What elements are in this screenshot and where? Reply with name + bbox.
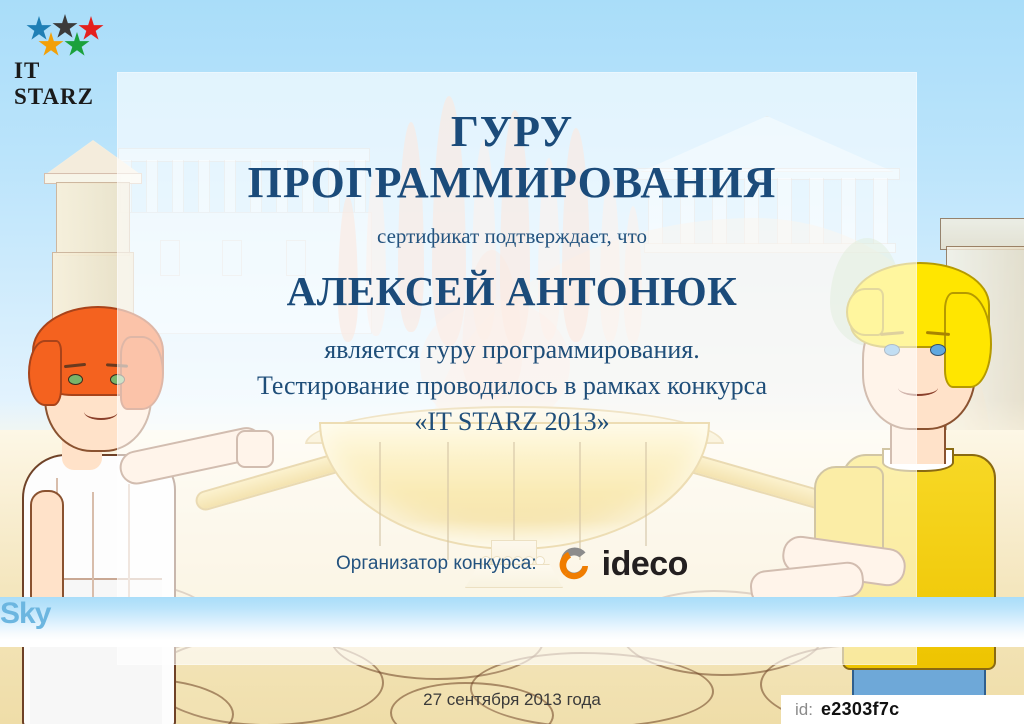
certificate-id-badge: id: e2303f7c	[781, 695, 1024, 724]
body-line-3: «IT STARZ 2013»	[0, 404, 1024, 440]
star-blue-icon	[26, 16, 52, 42]
body-line-1: является гуру программирования.	[0, 332, 1024, 368]
certificate-subtitle: сертификат подтверждает, что	[0, 224, 1024, 249]
ideco-wordmark: ideco	[602, 545, 688, 584]
certificate-canvas: IT STARZ ГУРУ ПРОГРАММИРОВАНИЯ сертифика…	[0, 0, 1024, 724]
star-red-icon	[78, 16, 104, 42]
certificate-id-label: id:	[795, 700, 813, 720]
partner-logo-skydns[interactable]: SkyDNS	[745, 605, 805, 639]
certificate-body: является гуру программирования. Тестиров…	[0, 332, 1024, 440]
star-dark-icon	[52, 14, 78, 40]
organizer-row: Организатор конкурса: ideco	[0, 544, 1024, 584]
organizer-label: Организатор конкурса:	[336, 553, 537, 575]
logo-stars	[14, 14, 114, 56]
partners-row: Партнеры: LINUX FORMAT Главное в мире Li…	[0, 597, 1024, 647]
logo-wordmark: IT STARZ	[14, 58, 124, 110]
skydns-main: Sky	[0, 597, 1024, 647]
certificate-title-line2: ПРОГРАММИРОВАНИЯ	[0, 157, 1024, 208]
certificate-title-line1: ГУРУ	[0, 106, 1024, 157]
body-line-2: Тестирование проводилось в рамках конкур…	[0, 368, 1024, 404]
certificate-id-value: e2303f7c	[821, 699, 899, 720]
ideco-logo[interactable]: ideco	[555, 544, 688, 584]
ideco-swoosh-icon	[555, 544, 595, 584]
recipient-name: АЛЕКСЕЙ АНТОНЮК	[0, 267, 1024, 315]
it-starz-logo: IT STARZ	[14, 14, 124, 90]
